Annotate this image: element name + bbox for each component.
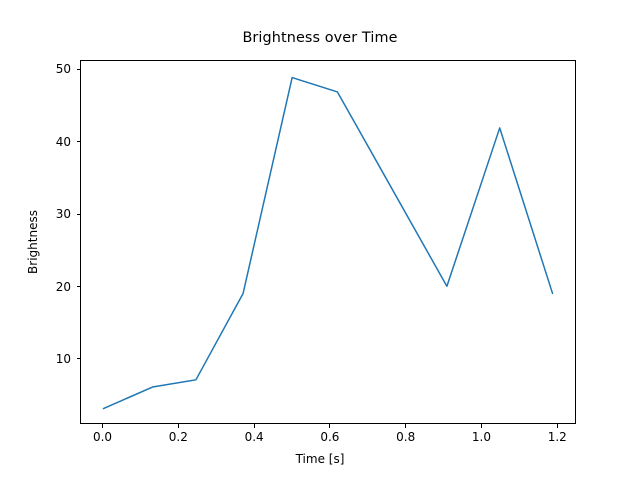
x-tick-label: 0.2 [169,430,188,444]
x-tick-label: 0.4 [245,430,264,444]
x-tick-mark [405,424,406,428]
x-tick-mark [102,424,103,428]
y-axis-label: Brightness [26,60,42,424]
x-tick-mark [178,424,179,428]
x-tick-label: 1.0 [472,430,491,444]
line-series-svg [81,61,575,423]
x-tick-label: 0.6 [320,430,339,444]
x-tick-mark [557,424,558,428]
x-tick-mark [481,424,482,428]
plot-area [80,60,576,424]
x-tick-label: 1.2 [548,430,567,444]
chart-figure: Brightness over Time 1020304050 0.00.20.… [0,0,640,480]
line-series-brightness [103,78,552,409]
x-tick-mark [254,424,255,428]
x-axis-label: Time [s] [0,452,640,466]
x-tick-label: 0.8 [396,430,415,444]
chart-title: Brightness over Time [0,30,640,46]
x-tick-label: 0.0 [93,430,112,444]
x-tick-mark [329,424,330,428]
